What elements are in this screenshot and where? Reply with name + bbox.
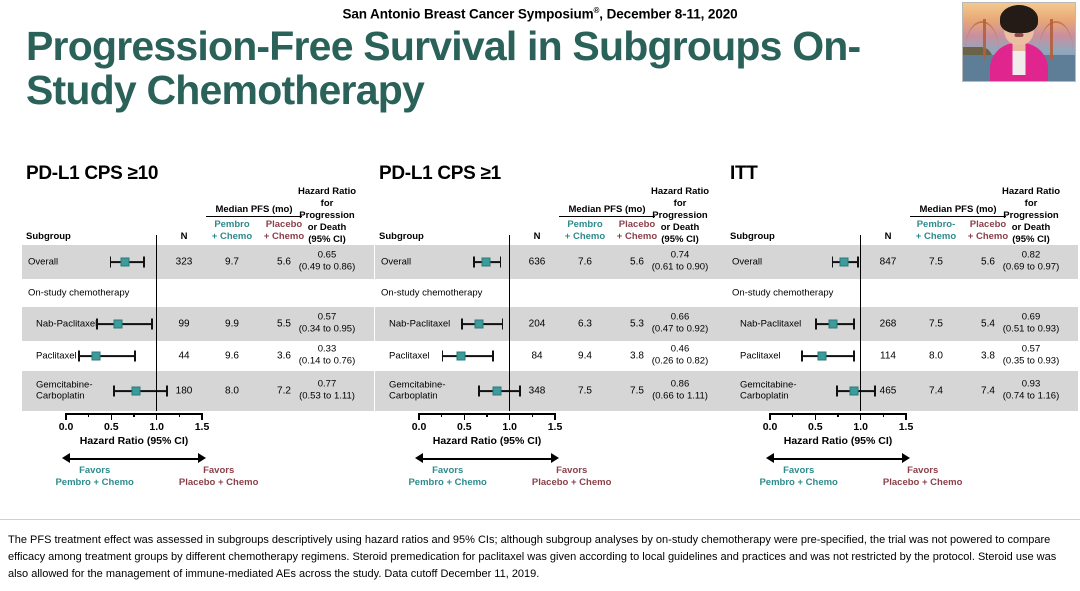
ci-cap-upper <box>857 257 859 268</box>
bridge-cable-right-icon <box>1039 21 1073 51</box>
favors-pembro-line1: Favors <box>35 465 155 477</box>
conference-name: San Antonio Breast Cancer Symposium <box>342 7 593 22</box>
row-n-value: 44 <box>169 351 199 362</box>
favors-placebo-line2: Placebo + Chemo <box>863 477 983 489</box>
axis-tick-label: 1.5 <box>195 421 210 433</box>
table-row: Gemcitabine- Carboplatin4657.47.40.93(0.… <box>726 371 1078 411</box>
column-header-subgroup: Subgroup <box>730 231 775 242</box>
row-label: On-study chemotherapy <box>28 287 129 298</box>
ci-cap-upper <box>492 351 494 362</box>
reference-line <box>156 235 157 411</box>
point-estimate-marker <box>131 387 140 396</box>
axis-tick-label: 1.0 <box>853 421 868 433</box>
table-section-header: On-study chemotherapy <box>726 279 1078 307</box>
ci-cap-lower <box>110 257 112 268</box>
ci-cap-lower <box>461 319 463 330</box>
row-hazard-ratio: 0.57(0.34 to 0.95) <box>287 312 367 337</box>
ci-cap-upper <box>519 386 521 397</box>
ci-cap-lower <box>473 257 475 268</box>
row-pembro-pfs: 9.9 <box>208 319 256 330</box>
presenter-shirt <box>1013 51 1026 75</box>
ci-cap-lower <box>815 319 817 330</box>
favors-arrow-left-icon <box>62 453 70 463</box>
axis-tick-major <box>65 413 67 420</box>
row-pembro-pfs: 7.5 <box>912 319 960 330</box>
column-header-hr-line1: Hazard Ratio <box>643 186 717 198</box>
favors-bar-line <box>773 458 903 460</box>
table-row: Nab-Paclitaxel999.95.50.57(0.34 to 0.95) <box>22 307 374 341</box>
axis-tick-label: 1.0 <box>149 421 164 433</box>
point-estimate-marker <box>850 387 859 396</box>
hr-point-estimate: 0.65 <box>287 250 367 262</box>
row-label: Paclitaxel <box>740 350 781 361</box>
axis-tick-major <box>860 413 862 420</box>
ci-cap-upper <box>853 351 855 362</box>
axis-tick-major <box>769 413 771 420</box>
row-label: Gemcitabine- Carboplatin <box>740 380 797 403</box>
row-label: Overall <box>732 256 762 267</box>
column-header-hazard-ratio: Hazard RatioforProgressionor Death(95% C… <box>994 186 1068 245</box>
ci-cap-upper <box>853 319 855 330</box>
table-row: Overall6367.65.60.74(0.61 to 0.90) <box>375 245 727 279</box>
favors-placebo-line1: Favors <box>159 465 279 477</box>
point-estimate-marker <box>840 258 849 267</box>
column-header-hr-line5: (95% CI) <box>643 234 717 246</box>
forest-panel-1: PD-L1 CPS ≥1SubgroupNMedian PFS (mo)Pemb… <box>375 163 727 508</box>
column-header-hr-line2: for <box>994 198 1068 210</box>
row-label: Paclitaxel <box>389 350 430 361</box>
column-header-pembro-line2: + Chemo <box>208 231 256 243</box>
row-hazard-ratio: 0.77(0.53 to 1.11) <box>287 379 367 404</box>
ci-cap-upper <box>151 319 153 330</box>
axis-tick-major <box>111 413 113 420</box>
hr-point-estimate: 0.82 <box>991 250 1071 262</box>
ci-cap-lower <box>78 351 80 362</box>
row-n-value: 465 <box>873 386 903 397</box>
favors-placebo-line2: Placebo + Chemo <box>512 477 632 489</box>
ci-cap-lower <box>801 351 803 362</box>
row-label: Overall <box>381 256 411 267</box>
row-pembro-pfs: 7.5 <box>561 386 609 397</box>
row-hazard-ratio: 0.65(0.49 to 0.86) <box>287 250 367 275</box>
axis-tick-minor <box>486 413 488 417</box>
column-header-hr-line3: Progression <box>290 210 364 222</box>
favors-bar-line <box>69 458 199 460</box>
row-n-value: 114 <box>873 351 903 362</box>
favors-pembro-label: FavorsPembro + Chemo <box>739 465 859 490</box>
table-row: Overall8477.55.60.82(0.69 to 0.97) <box>726 245 1078 279</box>
favors-bar-line <box>422 458 552 460</box>
row-pembro-pfs: 8.0 <box>208 386 256 397</box>
column-header-n: N <box>172 231 196 242</box>
row-label: Gemcitabine- Carboplatin <box>36 380 93 403</box>
row-hazard-ratio: 0.33(0.14 to 0.76) <box>287 344 367 369</box>
row-n-value: 323 <box>169 257 199 268</box>
column-header-hr-line2: for <box>643 198 717 210</box>
column-header-median-pfs: Median PFS (mo) <box>559 204 655 217</box>
point-estimate-marker <box>817 352 826 361</box>
hr-point-estimate: 0.57 <box>287 312 367 324</box>
row-hazard-ratio: 0.74(0.61 to 0.90) <box>640 250 720 275</box>
column-header-median-pfs: Median PFS (mo) <box>910 204 1006 217</box>
confidence-interval-line <box>443 355 494 357</box>
favors-arrow-left-icon <box>766 453 774 463</box>
column-header-pembro-chemo: Pembro+ Chemo <box>561 219 609 243</box>
row-hazard-ratio: 0.69(0.51 to 0.93) <box>991 312 1071 337</box>
column-header-hr-line5: (95% CI) <box>994 234 1068 246</box>
ci-cap-upper <box>874 386 876 397</box>
forest-plot-panels: PD-L1 CPS ≥10SubgroupNMedian PFS (mo)Pem… <box>0 163 1080 508</box>
ci-cap-upper <box>502 319 504 330</box>
favors-pembro-line2: Pembro + Chemo <box>739 477 859 489</box>
table-body: Overall3239.75.60.65(0.49 to 0.86)On-stu… <box>22 245 374 411</box>
table-row: Paclitaxel849.43.80.46(0.26 to 0.82) <box>375 341 727 371</box>
hr-point-estimate: 0.74 <box>640 250 720 262</box>
axis-tick-major <box>464 413 466 420</box>
favors-placebo-label: FavorsPlacebo + Chemo <box>159 465 279 490</box>
forest-panel-0: PD-L1 CPS ≥10SubgroupNMedian PFS (mo)Pem… <box>22 163 374 508</box>
point-estimate-marker <box>456 352 465 361</box>
row-n-value: 84 <box>522 351 552 362</box>
favors-direction-bar <box>766 453 910 463</box>
point-estimate-marker <box>120 258 129 267</box>
axis-tick-major <box>554 413 556 420</box>
presenter-mouth <box>1015 33 1024 37</box>
column-header-pembro-line1: Pembro- <box>912 219 960 231</box>
favors-placebo-line1: Favors <box>863 465 983 477</box>
column-header-hr-line2: for <box>290 198 364 210</box>
table-row: Gemcitabine- Carboplatin3487.57.50.86(0.… <box>375 371 727 411</box>
favors-pembro-label: FavorsPembro + Chemo <box>388 465 508 490</box>
column-header-pembro-line1: Pembro <box>208 219 256 231</box>
table-body: Overall8477.55.60.82(0.69 to 0.97)On-stu… <box>726 245 1078 411</box>
axis-tick-label: 0.0 <box>412 421 427 433</box>
forest-panel-2: ITTSubgroupNMedian PFS (mo)Pembro-+ Chem… <box>726 163 1078 508</box>
column-header-pembro-line2: + Chemo <box>561 231 609 243</box>
confidence-interval-line <box>97 323 152 325</box>
axis-tick-label: 0.0 <box>59 421 74 433</box>
axis-tick-minor <box>792 413 794 417</box>
table-section-header: On-study chemotherapy <box>22 279 374 307</box>
hr-point-estimate: 0.77 <box>287 379 367 391</box>
hr-point-estimate: 0.46 <box>640 344 720 356</box>
bridge-cable-left-icon <box>965 21 999 51</box>
ci-cap-lower <box>836 386 838 397</box>
axis-tick-minor <box>837 413 839 417</box>
axis-tick-label: 1.0 <box>502 421 517 433</box>
ci-cap-lower <box>832 257 834 268</box>
row-label: Nab-Paclitaxel <box>389 318 450 329</box>
hr-point-estimate: 0.66 <box>640 312 720 324</box>
favors-pembro-line1: Favors <box>388 465 508 477</box>
hr-point-estimate: 0.57 <box>991 344 1071 356</box>
favors-arrow-right-icon <box>198 453 206 463</box>
table-header: SubgroupNMedian PFS (mo)Pembro+ ChemoPla… <box>375 183 727 245</box>
axis-tick-major <box>815 413 817 420</box>
column-header-hazard-ratio: Hazard RatioforProgressionor Death(95% C… <box>643 186 717 245</box>
hr-point-estimate: 0.93 <box>991 379 1071 391</box>
axis-tick-label: 0.5 <box>104 421 119 433</box>
table-row: Paclitaxel449.63.60.33(0.14 to 0.76) <box>22 341 374 371</box>
row-n-value: 847 <box>873 257 903 268</box>
favors-pembro-line2: Pembro + Chemo <box>35 477 155 489</box>
favors-pembro-label: FavorsPembro + Chemo <box>35 465 155 490</box>
presenter-hair <box>1000 5 1038 33</box>
column-header-n: N <box>525 231 549 242</box>
axis-tick-label: 0.5 <box>457 421 472 433</box>
favors-arrow-left-icon <box>415 453 423 463</box>
table-header: SubgroupNMedian PFS (mo)Pembro+ ChemoPla… <box>22 183 374 245</box>
ci-cap-lower <box>442 351 444 362</box>
axis-tick-label: 0.0 <box>763 421 778 433</box>
axis-tick-minor <box>179 413 181 417</box>
row-hazard-ratio: 0.93(0.74 to 1.16) <box>991 379 1071 404</box>
table-row: Nab-Paclitaxel2687.55.40.69(0.51 to 0.93… <box>726 307 1078 341</box>
panel-title: ITT <box>730 163 758 185</box>
confidence-interval-line <box>114 390 167 392</box>
hr-confidence-interval: (0.14 to 0.76) <box>287 356 367 368</box>
table-row: Overall3239.75.60.65(0.49 to 0.86) <box>22 245 374 279</box>
row-pembro-pfs: 9.4 <box>561 351 609 362</box>
axis-tick-minor <box>88 413 90 417</box>
confidence-interval-line <box>79 355 135 357</box>
ci-cap-upper <box>500 257 502 268</box>
hr-confidence-interval: (0.53 to 1.11) <box>287 391 367 403</box>
axis-tick-major <box>418 413 420 420</box>
row-label: Paclitaxel <box>36 350 77 361</box>
axis-caption: Hazard Ratio (95% CI) <box>66 435 202 447</box>
ci-cap-lower <box>478 386 480 397</box>
table-row: Gemcitabine- Carboplatin1808.07.20.77(0.… <box>22 371 374 411</box>
hr-confidence-interval: (0.69 to 0.97) <box>991 262 1071 274</box>
row-n-value: 348 <box>522 386 552 397</box>
hr-confidence-interval: (0.49 to 0.86) <box>287 262 367 274</box>
point-estimate-marker <box>91 352 100 361</box>
point-estimate-marker <box>482 258 491 267</box>
point-estimate-marker <box>828 320 837 329</box>
footnote-text: The PFS treatment effect was assessed in… <box>8 532 1064 583</box>
column-header-pembro-line1: Pembro <box>561 219 609 231</box>
panel-title: PD-L1 CPS ≥10 <box>26 163 158 185</box>
reference-line <box>509 235 510 411</box>
hr-confidence-interval: (0.47 to 0.92) <box>640 324 720 336</box>
hr-point-estimate: 0.69 <box>991 312 1071 324</box>
column-header-subgroup: Subgroup <box>26 231 71 242</box>
hr-confidence-interval: (0.61 to 0.90) <box>640 262 720 274</box>
row-pembro-pfs: 9.7 <box>208 257 256 268</box>
favors-placebo-label: FavorsPlacebo + Chemo <box>863 465 983 490</box>
conference-header: San Antonio Breast Cancer Symposium®, De… <box>0 6 1080 22</box>
column-header-median-pfs: Median PFS (mo) <box>206 204 302 217</box>
axis-tick-minor <box>532 413 534 417</box>
panel-title: PD-L1 CPS ≥1 <box>379 163 501 185</box>
column-header-hr-line3: Progression <box>643 210 717 222</box>
row-pembro-pfs: 7.4 <box>912 386 960 397</box>
favors-placebo-line2: Placebo + Chemo <box>159 477 279 489</box>
row-pembro-pfs: 7.6 <box>561 257 609 268</box>
row-hazard-ratio: 0.46(0.26 to 0.82) <box>640 344 720 369</box>
row-pembro-pfs: 8.0 <box>912 351 960 362</box>
bridge-tower-right-icon <box>1050 19 1053 59</box>
column-header-hazard-ratio: Hazard RatioforProgressionor Death(95% C… <box>290 186 364 245</box>
row-pembro-pfs: 7.5 <box>912 257 960 268</box>
column-header-hr-line4: or Death <box>994 222 1068 234</box>
axis-tick-major <box>509 413 511 420</box>
row-hazard-ratio: 0.57(0.35 to 0.93) <box>991 344 1071 369</box>
hr-confidence-interval: (0.74 to 1.16) <box>991 391 1071 403</box>
page-title: Progression-Free Survival in Subgroups O… <box>26 24 956 113</box>
row-hazard-ratio: 0.86(0.66 to 1.11) <box>640 379 720 404</box>
favors-arrow-right-icon <box>902 453 910 463</box>
row-label: On-study chemotherapy <box>381 287 482 298</box>
table-row: Nab-Paclitaxel2046.35.30.66(0.47 to 0.92… <box>375 307 727 341</box>
confidence-interval-line <box>802 355 855 357</box>
row-n-value: 268 <box>873 319 903 330</box>
favors-direction-bar <box>62 453 206 463</box>
favors-pembro-line1: Favors <box>739 465 859 477</box>
hr-confidence-interval: (0.26 to 0.82) <box>640 356 720 368</box>
row-n-value: 180 <box>169 386 199 397</box>
column-header-pembro-chemo: Pembro+ Chemo <box>208 219 256 243</box>
column-header-hr-line4: or Death <box>643 222 717 234</box>
axis-tick-minor <box>441 413 443 417</box>
row-label: Gemcitabine- Carboplatin <box>389 380 446 403</box>
axis-tick-label: 1.5 <box>548 421 563 433</box>
axis-tick-minor <box>133 413 135 417</box>
favors-pembro-line2: Pembro + Chemo <box>388 477 508 489</box>
point-estimate-marker <box>113 320 122 329</box>
row-pembro-pfs: 6.3 <box>561 319 609 330</box>
hr-point-estimate: 0.33 <box>287 344 367 356</box>
row-label: On-study chemotherapy <box>732 287 833 298</box>
point-estimate-marker <box>474 320 483 329</box>
hr-confidence-interval: (0.66 to 1.11) <box>640 391 720 403</box>
row-hazard-ratio: 0.66(0.47 to 0.92) <box>640 312 720 337</box>
conference-dates: , December 8-11, 2020 <box>599 7 737 22</box>
ci-cap-upper <box>166 386 168 397</box>
footnote-divider <box>0 519 1080 520</box>
axis-tick-minor <box>883 413 885 417</box>
axis-tick-label: 0.5 <box>808 421 823 433</box>
hr-point-estimate: 0.86 <box>640 379 720 391</box>
axis-caption: Hazard Ratio (95% CI) <box>770 435 906 447</box>
column-header-hr-line1: Hazard Ratio <box>290 186 364 198</box>
axis-tick-major <box>201 413 203 420</box>
point-estimate-marker <box>492 387 501 396</box>
row-label: Nab-Paclitaxel <box>740 318 801 329</box>
column-header-hr-line3: Progression <box>994 210 1068 222</box>
reference-line <box>860 235 861 411</box>
presenter-video-thumbnail <box>962 2 1076 82</box>
row-n-value: 204 <box>522 319 552 330</box>
favors-placebo-line1: Favors <box>512 465 632 477</box>
axis-tick-major <box>156 413 158 420</box>
bridge-tower-left-icon <box>983 19 986 59</box>
row-hazard-ratio: 0.82(0.69 to 0.97) <box>991 250 1071 275</box>
table-section-header: On-study chemotherapy <box>375 279 727 307</box>
axis-tick-major <box>905 413 907 420</box>
column-header-hr-line4: or Death <box>290 222 364 234</box>
table-header: SubgroupNMedian PFS (mo)Pembro-+ ChemoPl… <box>726 183 1078 245</box>
column-header-n: N <box>876 231 900 242</box>
axis-tick-label: 1.5 <box>899 421 914 433</box>
column-header-pembro-line2: + Chemo <box>912 231 960 243</box>
ci-cap-lower <box>113 386 115 397</box>
favors-arrow-right-icon <box>551 453 559 463</box>
ci-cap-upper <box>134 351 136 362</box>
hr-confidence-interval: (0.34 to 0.95) <box>287 324 367 336</box>
column-header-pembro-chemo: Pembro-+ Chemo <box>912 219 960 243</box>
row-pembro-pfs: 9.6 <box>208 351 256 362</box>
hr-confidence-interval: (0.51 to 0.93) <box>991 324 1071 336</box>
row-n-value: 636 <box>522 257 552 268</box>
favors-direction-bar <box>415 453 559 463</box>
ci-cap-upper <box>143 257 145 268</box>
favors-placebo-label: FavorsPlacebo + Chemo <box>512 465 632 490</box>
column-header-subgroup: Subgroup <box>379 231 424 242</box>
table-row: Paclitaxel1148.03.80.57(0.35 to 0.93) <box>726 341 1078 371</box>
axis-caption: Hazard Ratio (95% CI) <box>419 435 555 447</box>
hr-confidence-interval: (0.35 to 0.93) <box>991 356 1071 368</box>
column-header-hr-line1: Hazard Ratio <box>994 186 1068 198</box>
row-label: Nab-Paclitaxel <box>36 318 97 329</box>
column-header-hr-line5: (95% CI) <box>290 234 364 246</box>
ci-cap-lower <box>96 319 98 330</box>
table-body: Overall6367.65.60.74(0.61 to 0.90)On-stu… <box>375 245 727 411</box>
row-label: Overall <box>28 256 58 267</box>
row-n-value: 99 <box>169 319 199 330</box>
